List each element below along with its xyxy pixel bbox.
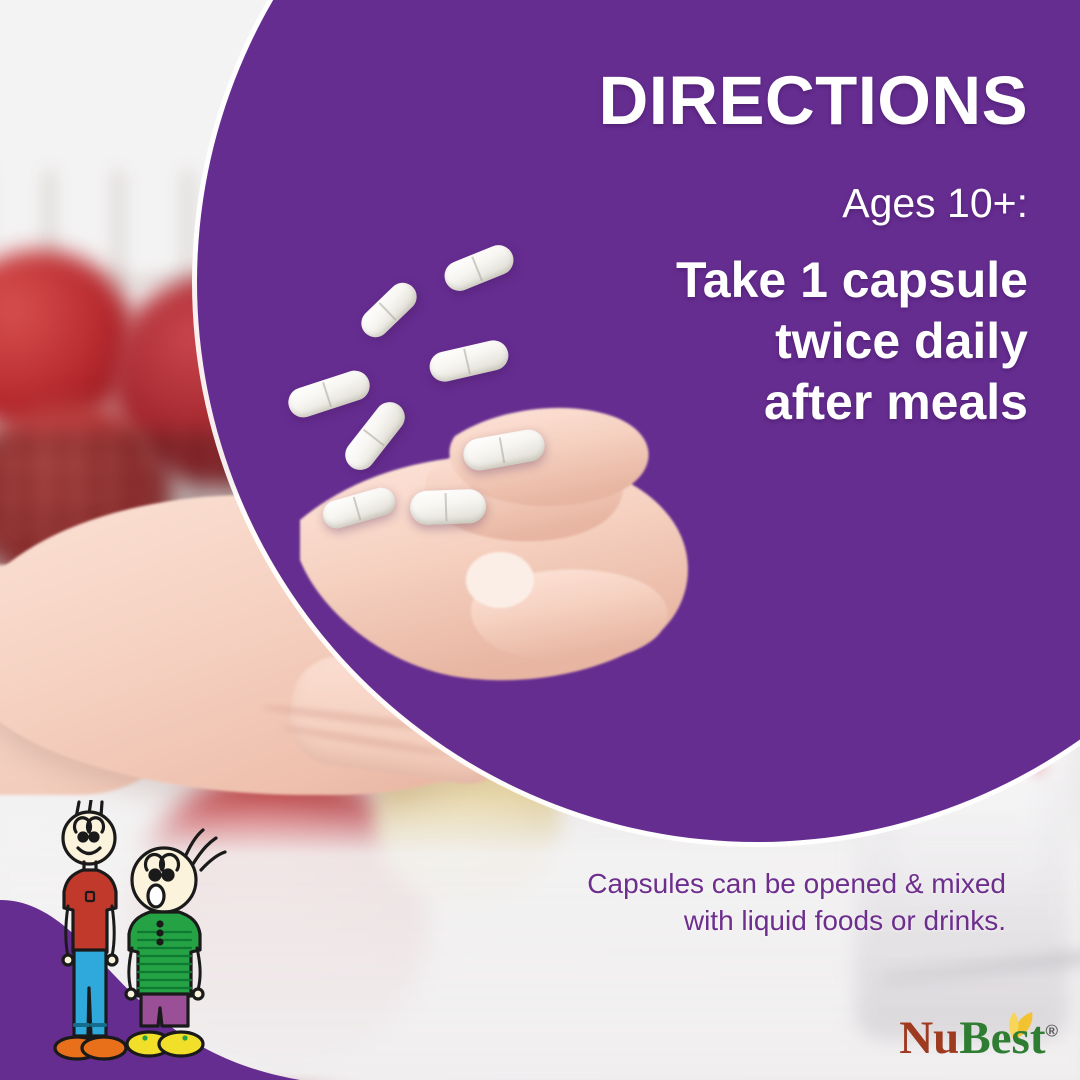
logo-text-best: Best xyxy=(959,1012,1045,1064)
capsule-note-line-1: Capsules can be opened & mixed xyxy=(486,866,1006,903)
short-child-figure xyxy=(126,830,225,1056)
page-title: DIRECTIONS xyxy=(408,66,1028,135)
registered-trademark-icon: ® xyxy=(1045,1021,1058,1040)
nubest-logo[interactable]: NuBest® xyxy=(899,1015,1058,1062)
directions-copy-block: DIRECTIONS Ages 10+: Take 1 capsule twic… xyxy=(408,66,1028,433)
dosage-line-3: after meals xyxy=(408,372,1028,433)
promo-graphic-canvas: DIRECTIONS Ages 10+: Take 1 capsule twic… xyxy=(0,0,1080,1080)
dosage-line-1: Take 1 capsule xyxy=(408,250,1028,311)
capsule-note-line-2: with liquid foods or drinks. xyxy=(486,903,1006,940)
cartoon-children-illustration xyxy=(46,800,276,1080)
age-label: Ages 10+: xyxy=(408,183,1028,224)
capsule-note: Capsules can be opened & mixed with liqu… xyxy=(486,866,1006,940)
dosage-line-2: twice daily xyxy=(408,311,1028,372)
logo-text-nu: Nu xyxy=(899,1012,959,1064)
dosage-instruction: Take 1 capsule twice daily after meals xyxy=(408,250,1028,433)
capsule xyxy=(409,489,486,526)
tall-child-figure xyxy=(55,800,126,1059)
